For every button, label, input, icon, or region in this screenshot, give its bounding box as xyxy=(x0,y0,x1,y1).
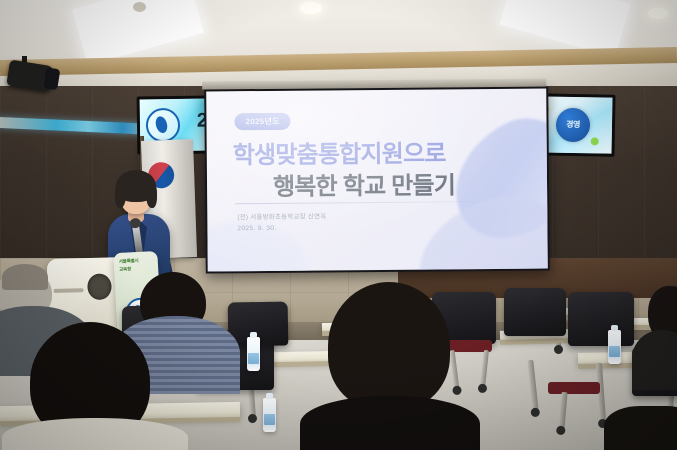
tv-right-badge-text: 경영 xyxy=(556,108,591,143)
audience-member-shoulders xyxy=(300,396,480,450)
podium-label-plate xyxy=(54,288,84,293)
water-bottle xyxy=(608,330,621,364)
ceiling-spotlight xyxy=(648,8,668,19)
water-bottle xyxy=(247,337,260,371)
slide-date: 2025. 9. 30. xyxy=(237,225,276,232)
slide-year-badge: 2025년도 xyxy=(234,113,290,130)
ceiling-spotlight xyxy=(300,2,322,14)
conference-chair xyxy=(568,292,634,346)
slide-title-line2: 행복한 학교 만들기 xyxy=(273,165,455,202)
screen-roller-case xyxy=(202,79,546,90)
podium-banner-line2: 교육청 xyxy=(119,265,155,274)
audience-member-shoulders xyxy=(604,406,677,450)
ceiling-sensor xyxy=(133,2,146,12)
water-bottle xyxy=(263,398,276,432)
slide-divider xyxy=(235,201,479,204)
audience-member-head xyxy=(328,282,450,410)
audience-member-hair xyxy=(2,264,48,290)
circular-blue-badge-icon: 경영 xyxy=(556,108,591,143)
slide-presenter: (전) 서울방화초등학교장 신연옥 xyxy=(237,210,326,221)
audience-member-shoulders xyxy=(2,418,188,450)
audience-member-shoulders xyxy=(632,330,677,390)
podium-control-knob xyxy=(87,273,112,300)
chair-seat xyxy=(548,382,600,394)
speaker-hair xyxy=(146,182,157,208)
conference-chair xyxy=(504,288,566,336)
projection-screen: 2025년도 학생맞춤통합지원으로 행복한 학교 만들기 (전) 서울방화초등학… xyxy=(204,87,550,274)
speaker-hair xyxy=(115,182,126,208)
presentation-slide: 2025년도 학생맞춤통합지원으로 행복한 학교 만들기 (전) 서울방화초등학… xyxy=(206,89,548,272)
lecture-hall-photo: 2 경영 2025년도 학생맞춤통합지원으로 행복한 학교 만들기 (전) 서울… xyxy=(0,0,677,450)
